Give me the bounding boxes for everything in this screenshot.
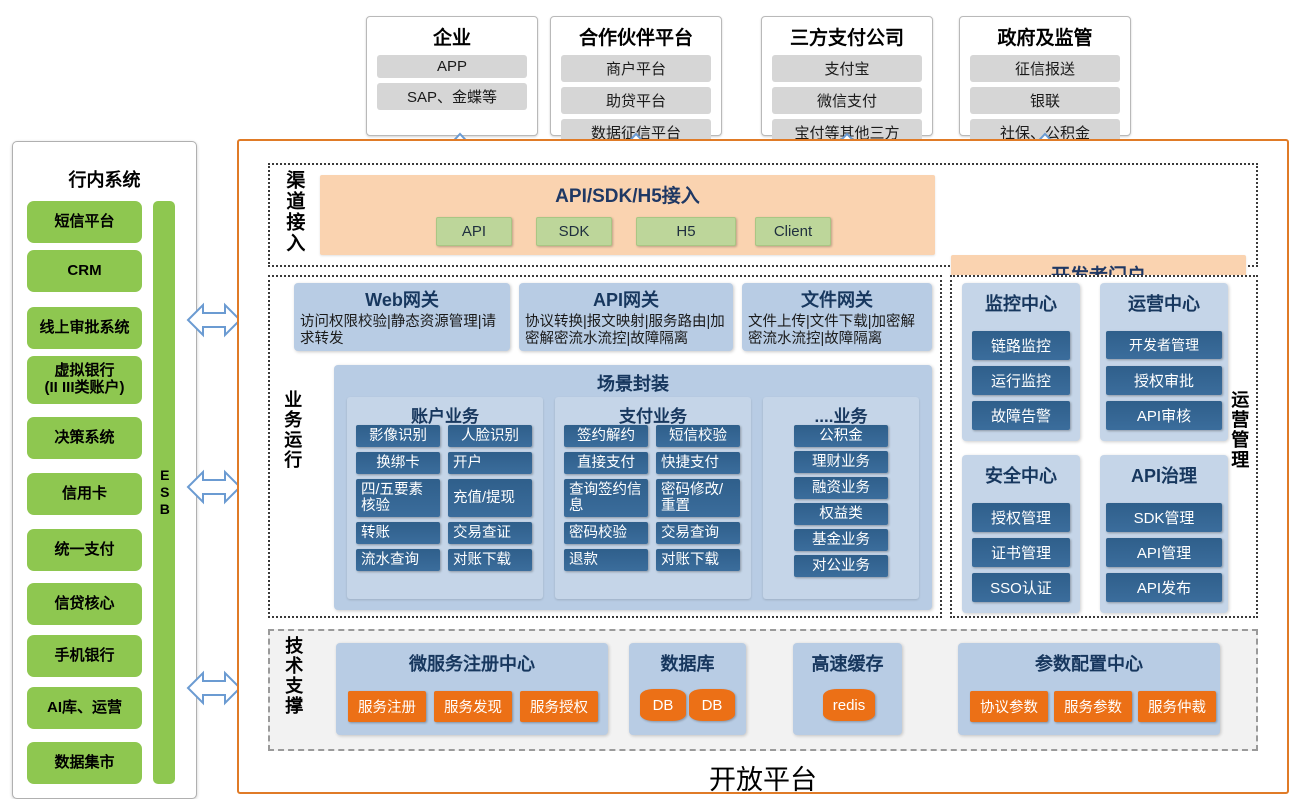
sidebar-item-credit-core[interactable]: 信贷核心 (27, 583, 142, 625)
tech-chip[interactable]: 服务仲裁 (1138, 691, 1216, 722)
database-cylinder[interactable]: DB (689, 689, 735, 721)
tech-card-title: 微服务注册中心 (336, 643, 608, 676)
tech-card-title: 参数配置中心 (958, 643, 1220, 676)
tech-card-param-config: 参数配置中心 协议参数 服务参数 服务仲裁 (958, 643, 1220, 735)
tech-card-title: 数据库 (629, 643, 746, 676)
tech-chip[interactable]: 服务授权 (520, 691, 598, 722)
access-chip-api[interactable]: API (436, 217, 512, 246)
api-sdk-h5-access-title: API/SDK/H5接入 (320, 175, 935, 208)
scenario-chip[interactable]: 密码修改/重置 (656, 479, 740, 517)
scenario-chip[interactable]: 理财业务 (794, 451, 888, 473)
scenario-encapsulation-block: 场景封装 账户业务 影像识别 换绑卡 四/五要素核验 转账 流水查询 人脸识别 … (334, 365, 932, 610)
ops-chip[interactable]: 授权管理 (972, 503, 1070, 532)
scenario-group-other: ....业务 公积金 理财业务 融资业务 权益类 基金业务 对公业务 (763, 397, 919, 599)
actor-card-title: 政府及监管 (960, 17, 1130, 50)
actor-card-title: 企业 (367, 17, 537, 50)
redis-cylinder[interactable]: redis (823, 689, 875, 721)
actor-item[interactable]: 银联 (970, 87, 1120, 114)
scenario-chip[interactable]: 签约解约 (564, 425, 648, 447)
api-sdk-h5-access-block: API/SDK/H5接入 API SDK H5 Client (320, 175, 935, 255)
scenario-chip[interactable]: 开户 (448, 452, 532, 474)
actor-card-title: 合作伙伴平台 (551, 17, 721, 50)
scenario-group-title: 支付业务 (555, 397, 751, 427)
scenario-chip[interactable]: 基金业务 (794, 529, 888, 551)
actor-item[interactable]: 助贷平台 (561, 87, 711, 114)
scenario-chip[interactable]: 四/五要素核验 (356, 479, 440, 517)
scenario-chip[interactable]: 直接支付 (564, 452, 648, 474)
actor-item[interactable]: 商户平台 (561, 55, 711, 82)
scenario-chip[interactable]: 快捷支付 (656, 452, 740, 474)
scenario-chip[interactable]: 查询签约信息 (564, 479, 648, 517)
scenario-group-title: 账户业务 (347, 397, 543, 427)
gateway-title: API网关 (519, 283, 733, 312)
scenario-chip[interactable]: 权益类 (794, 503, 888, 525)
ops-chip[interactable]: SSO认证 (972, 573, 1070, 602)
scenario-chip[interactable]: 公积金 (794, 425, 888, 447)
scenario-group-title: ....业务 (763, 397, 919, 427)
esb-label: ESB (155, 467, 173, 518)
tech-card-microservice-registry: 微服务注册中心 服务注册 服务发现 服务授权 (336, 643, 608, 735)
scenario-chip[interactable]: 对公业务 (794, 555, 888, 577)
scenario-chip[interactable]: 密码校验 (564, 522, 648, 544)
sidebar-item-data-mart[interactable]: 数据集市 (27, 742, 142, 784)
ops-panel-title: 运营中心 (1100, 283, 1228, 316)
scenario-chip[interactable]: 融资业务 (794, 477, 888, 499)
ops-chip[interactable]: SDK管理 (1106, 503, 1222, 532)
scenario-chip[interactable]: 换绑卡 (356, 452, 440, 474)
gateway-card-web[interactable]: Web网关 访问权限校验|静态资源管理|请求转发 (294, 283, 510, 351)
access-chip-h5[interactable]: H5 (636, 217, 736, 246)
tech-card-cache: 高速缓存 redis (793, 643, 902, 735)
gateway-card-file[interactable]: 文件网关 文件上传|文件下载|加密解密流水流控|故障隔离 (742, 283, 932, 351)
actor-card-title: 三方支付公司 (762, 17, 932, 50)
tech-card-title: 高速缓存 (793, 643, 902, 676)
sidebar-item-unified-payment[interactable]: 统一支付 (27, 529, 142, 571)
sidebar-item-mobile-bank[interactable]: 手机银行 (27, 635, 142, 677)
in-bank-systems-title: 行内系统 (13, 166, 196, 192)
business-run-label: 业务运行 (281, 390, 302, 510)
actor-item[interactable]: SAP、金蝶等 (377, 83, 527, 110)
scenario-chip[interactable]: 对账下载 (448, 549, 532, 571)
sidebar-item-online-approval[interactable]: 线上审批系统 (27, 307, 142, 349)
actor-item[interactable]: 微信支付 (772, 87, 922, 114)
gateway-desc: 协议转换|报文映射|服务路由|加密解密流水流控|故障隔离 (519, 312, 733, 348)
channel-access-label: 渠道接入 (282, 170, 304, 262)
access-chip-client[interactable]: Client (755, 217, 831, 246)
scenario-chip[interactable]: 影像识别 (356, 425, 440, 447)
scenario-chip[interactable]: 流水查询 (356, 549, 440, 571)
in-bank-systems-panel: 行内系统 短信平台 CRM 线上审批系统 虚拟银行 (II III类账户) 决策… (12, 141, 197, 799)
sidebar-item-crm[interactable]: CRM (27, 250, 142, 292)
sidebar-item-sms-platform[interactable]: 短信平台 (27, 201, 142, 243)
actor-item[interactable]: 支付宝 (772, 55, 922, 82)
database-cylinder[interactable]: DB (640, 689, 686, 721)
actor-card-government-regulator[interactable]: 政府及监管 征信报送 银联 社保、公积金 (959, 16, 1131, 136)
ops-chip[interactable]: 证书管理 (972, 538, 1070, 567)
gateway-title: 文件网关 (742, 283, 932, 312)
sidebar-item-credit-card[interactable]: 信用卡 (27, 473, 142, 515)
ops-chip[interactable]: 开发者管理 (1106, 331, 1222, 359)
tech-support-label: 技术支撑 (282, 636, 303, 744)
ops-panel-security-center: 安全中心 授权管理 证书管理 SSO认证 (962, 455, 1080, 613)
ops-chip[interactable]: 故障告警 (972, 401, 1070, 430)
scenario-chip[interactable]: 交易查证 (448, 522, 532, 544)
gateway-card-api[interactable]: API网关 协议转换|报文映射|服务路由|加密解密流水流控|故障隔离 (519, 283, 733, 351)
actor-item[interactable]: 征信报送 (970, 55, 1120, 82)
tech-chip[interactable]: 协议参数 (970, 691, 1048, 722)
sidebar-item-ai-library-ops[interactable]: AI库、运营 (27, 687, 142, 729)
ops-panel-operation-center: 运营中心 开发者管理 授权审批 API审核 (1100, 283, 1228, 441)
ops-management-label: 运营管理 (1228, 390, 1249, 510)
tech-card-database: 数据库 DB DB (629, 643, 746, 735)
scenario-chip[interactable]: 充值/提现 (448, 479, 532, 517)
actor-card-partner-platform[interactable]: 合作伙伴平台 商户平台 助贷平台 数据征信平台 (550, 16, 722, 136)
access-chip-sdk[interactable]: SDK (536, 217, 612, 246)
gateway-desc: 文件上传|文件下载|加密解密流水流控|故障隔离 (742, 312, 932, 348)
scenario-chip[interactable]: 短信校验 (656, 425, 740, 447)
scenario-chip[interactable]: 交易查询 (656, 522, 740, 544)
ops-chip[interactable]: API发布 (1106, 573, 1222, 602)
sidebar-item-decision-system[interactable]: 决策系统 (27, 417, 142, 459)
scenario-group-payment: 支付业务 签约解约 直接支付 查询签约信息 密码校验 退款 短信校验 快捷支付 … (555, 397, 751, 599)
actor-card-third-party-payment[interactable]: 三方支付公司 支付宝 微信支付 宝付等其他三方 (761, 16, 933, 136)
ops-chip[interactable]: 授权审批 (1106, 366, 1222, 395)
tech-chip[interactable]: 服务发现 (434, 691, 512, 722)
page-title: 开放平台 (237, 758, 1289, 797)
ops-panel-title: 监控中心 (962, 283, 1080, 316)
actor-card-enterprise[interactable]: 企业 APP SAP、金蝶等 (366, 16, 538, 136)
tech-chip[interactable]: 服务参数 (1054, 691, 1132, 722)
actor-item[interactable]: APP (377, 55, 527, 78)
ops-panel-api-governance: API治理 SDK管理 API管理 API发布 (1100, 455, 1228, 613)
esb-platform-arrows (185, 280, 245, 710)
scenario-chip[interactable]: 对账下载 (656, 549, 740, 571)
ops-chip[interactable]: 链路监控 (972, 331, 1070, 360)
gateway-title: Web网关 (294, 283, 510, 312)
scenario-chip[interactable]: 退款 (564, 549, 648, 571)
ops-chip[interactable]: 运行监控 (972, 366, 1070, 395)
scenario-encapsulation-title: 场景封装 (334, 365, 932, 396)
ops-panel-title: 安全中心 (962, 455, 1080, 488)
tech-chip[interactable]: 服务注册 (348, 691, 426, 722)
ops-chip[interactable]: API管理 (1106, 538, 1222, 567)
gateway-desc: 访问权限校验|静态资源管理|请求转发 (294, 312, 510, 348)
ops-panel-monitoring: 监控中心 链路监控 运行监控 故障告警 (962, 283, 1080, 441)
scenario-chip[interactable]: 转账 (356, 522, 440, 544)
esb-bus: ESB (153, 201, 175, 784)
ops-chip[interactable]: API审核 (1106, 401, 1222, 430)
ops-panel-title: API治理 (1100, 455, 1228, 488)
sidebar-item-virtual-bank[interactable]: 虚拟银行 (II III类账户) (27, 356, 142, 404)
scenario-group-account: 账户业务 影像识别 换绑卡 四/五要素核验 转账 流水查询 人脸识别 开户 充值… (347, 397, 543, 599)
scenario-chip[interactable]: 人脸识别 (448, 425, 532, 447)
